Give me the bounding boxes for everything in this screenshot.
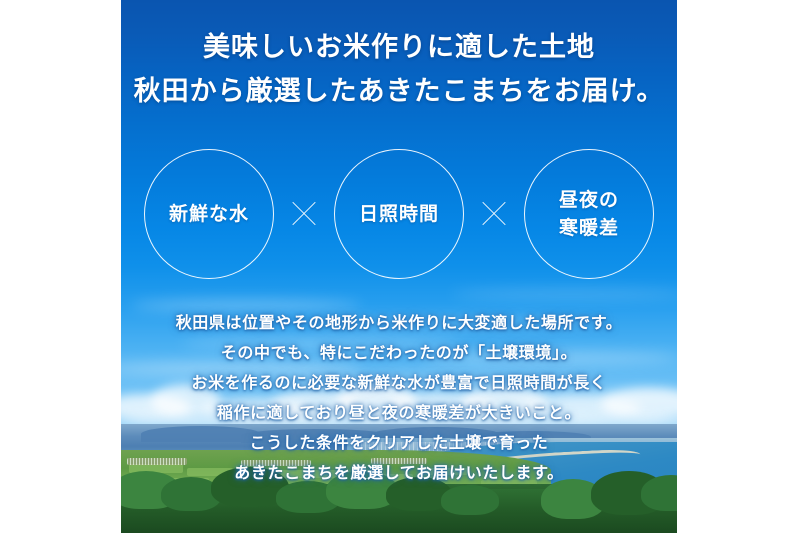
factor-circle-fresh-water: 新鮮な水	[144, 149, 274, 279]
factor-label-line-1: 日照時間	[359, 200, 439, 228]
headline-line-1: 美味しいお米作りに適した土地	[121, 26, 677, 70]
body-line-4: 稲作に適しており昼と夜の寒暖差が大きいこと。	[121, 398, 677, 428]
multiply-icon-1	[286, 196, 322, 232]
body-line-2: その中でも、特にこだわったのが「土壌環境」。	[121, 338, 677, 368]
headline: 美味しいお米作りに適した土地 秋田から厳選したあきたこまちをお届け。	[121, 26, 677, 114]
factor-label-line-1: 新鮮な水	[169, 200, 249, 228]
headline-line-2: 秋田から厳選したあきたこまちをお届け。	[121, 70, 677, 114]
body-line-3: お米を作るのに必要な新鮮な水が豊富で日照時間が長く	[121, 368, 677, 398]
body-line-6: あきたこまちを厳選してお届けいたします。	[121, 458, 677, 488]
factor-circle-row: 新鮮な水 日照時間 昼夜の 寒暖差	[121, 148, 677, 280]
factor-circle-sunshine-hours: 日照時間	[334, 149, 464, 279]
factor-label-line-1: 昼夜の	[559, 186, 619, 214]
multiply-icon-2	[476, 196, 512, 232]
factor-label-line-2: 寒暖差	[559, 214, 619, 242]
banner-content: 美味しいお米作りに適した土地 秋田から厳選したあきたこまちをお届け。 新鮮な水 …	[121, 0, 677, 533]
body-line-1: 秋田県は位置やその地形から米作りに大変適した場所です。	[121, 308, 677, 338]
factor-circle-temp-range: 昼夜の 寒暖差	[524, 149, 654, 279]
body-line-5: こうした条件をクリアした土壌で育った	[121, 428, 677, 458]
banner-image: 美味しいお米作りに適した土地 秋田から厳選したあきたこまちをお届け。 新鮮な水 …	[0, 0, 800, 533]
body-copy: 秋田県は位置やその地形から米作りに大変適した場所です。 その中でも、特にこだわっ…	[121, 308, 677, 488]
blue-gradient-panel: 美味しいお米作りに適した土地 秋田から厳選したあきたこまちをお届け。 新鮮な水 …	[121, 0, 677, 533]
